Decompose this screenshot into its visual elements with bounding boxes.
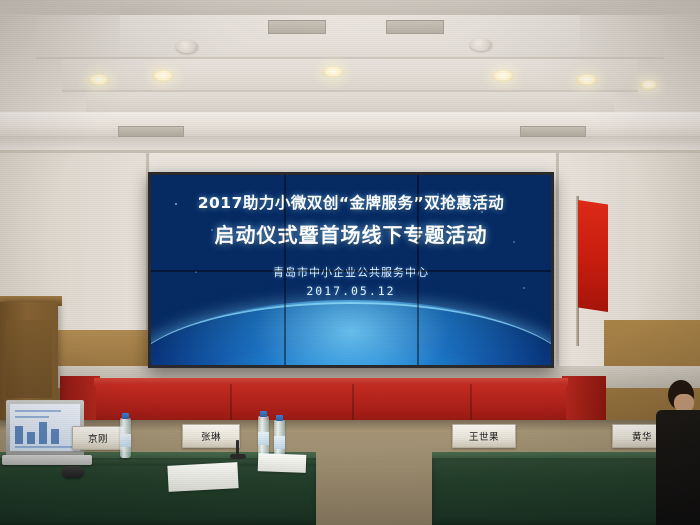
ceiling-speaker-1 (176, 40, 198, 53)
ac-vent-2 (386, 20, 444, 34)
laptop-base[interactable] (2, 455, 92, 465)
person-torso (656, 410, 700, 525)
wall-trim-top (0, 150, 700, 153)
ceiling-line-1 (36, 13, 664, 15)
paper-document-1[interactable] (167, 462, 238, 492)
led-organizer: 青岛市中小企业公共服务中心 (151, 264, 551, 280)
ac-vent-4 (520, 126, 586, 137)
podium-panel (6, 320, 52, 398)
ceiling-bay-3 (86, 92, 614, 114)
wall-trim-right-col (556, 150, 559, 370)
led-panel-seam-h1 (151, 270, 551, 272)
water-bottle-1[interactable] (120, 418, 131, 458)
led-text-block: 2017助力小微双创“金牌服务”双抢惠活动 启动仪式暨首场线下专题活动 青岛市中… (151, 191, 551, 298)
nameplate-3: 王世果 (452, 424, 516, 448)
ceiling-soffit (0, 112, 700, 138)
led-video-wall[interactable]: 2017助力小微双创“金牌服务”双抢惠活动 启动仪式暨首场线下专题活动 青岛市中… (148, 172, 554, 368)
ac-vent-1 (268, 20, 326, 34)
microphone-base (230, 454, 246, 459)
chinese-flag (578, 200, 608, 312)
downlight-3 (322, 66, 344, 78)
nameplate-2: 张琳 (182, 424, 240, 448)
downlight-5 (576, 74, 598, 86)
ac-vent-3 (118, 126, 184, 137)
downlight-2 (152, 70, 174, 82)
downlight-6 (640, 80, 658, 90)
nameplate-1: 京刚 (72, 426, 124, 450)
person-standing (660, 380, 700, 525)
led-headline-1: 2017助力小微双创“金牌服务”双抢惠活动 (151, 191, 551, 213)
downlight-4 (492, 70, 514, 82)
led-horizon-arc (151, 302, 551, 365)
led-date: 2017.05.12 (151, 284, 551, 298)
water-bottle-3[interactable] (274, 420, 285, 456)
paper-document-2[interactable] (258, 453, 307, 473)
photo-scene: 2017助力小微双创“金牌服务”双抢惠活动 启动仪式暨首场线下专题活动 青岛市中… (0, 0, 700, 525)
laptop-screen (10, 404, 80, 451)
ceiling-bay-2 (62, 59, 638, 91)
ceiling-bay-1 (36, 14, 664, 58)
computer-mouse[interactable] (62, 466, 84, 478)
water-bottle-2[interactable] (258, 416, 269, 456)
led-screen: 2017助力小微双创“金牌服务”双抢惠活动 启动仪式暨首场线下专题活动 青岛市中… (151, 175, 551, 365)
ceiling-speaker-2 (470, 38, 492, 51)
led-headline-2: 启动仪式暨首场线下专题活动 (151, 219, 551, 248)
downlight-1 (88, 74, 110, 86)
